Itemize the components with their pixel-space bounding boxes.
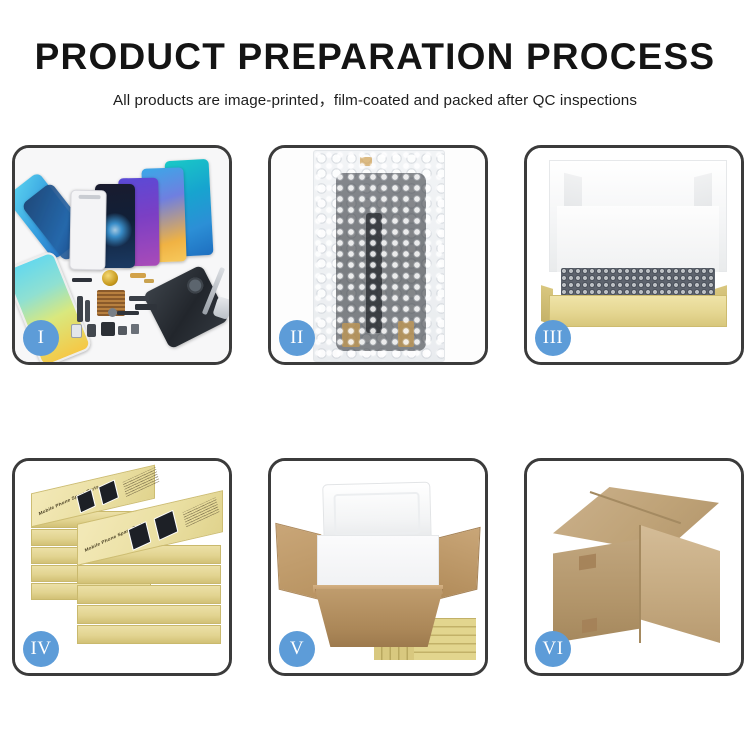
component-lens [108, 308, 117, 317]
stacked-box [77, 585, 221, 604]
step-panel-3[interactable]: III [524, 145, 744, 365]
step-badge-3: III [535, 320, 571, 356]
step-badge-5: V [279, 631, 315, 667]
step-panel-1[interactable]: I [12, 145, 232, 365]
bubble-wrap-bag [313, 150, 445, 362]
box-print-specs [123, 467, 160, 497]
process-step-grid: I II [12, 145, 738, 676]
component-ribbon-a [77, 296, 83, 322]
component-bracket-a [129, 296, 149, 301]
component-ribbon-b [85, 300, 90, 322]
component-strip [72, 278, 92, 282]
component-flex-cable [130, 273, 146, 278]
foam-lid-inner-edge [333, 492, 420, 536]
component-antenna [117, 311, 139, 315]
component-button [87, 324, 96, 337]
stacked-box [77, 605, 221, 624]
carton-tape-upper [579, 554, 596, 571]
foam-box-body [317, 535, 439, 591]
component-sim-tray [71, 324, 82, 338]
step-badge-4: IV [23, 631, 59, 667]
header: PRODUCT PREPARATION PROCESS All products… [0, 38, 750, 110]
component-speaker [102, 270, 118, 286]
carton-tape-lower [582, 618, 597, 633]
carton-left-face [553, 539, 641, 643]
box-print-specs [183, 497, 220, 527]
page-subtitle: All products are image-printed，film-coat… [0, 88, 750, 110]
component-chip [118, 326, 127, 335]
bubble-texture [314, 151, 444, 361]
component-connector [144, 279, 154, 283]
step-badge-6: VI [535, 631, 571, 667]
step-panel-5[interactable]: V [268, 458, 488, 676]
step-badge-2: II [279, 320, 315, 356]
box-print-thumbnail [98, 479, 119, 505]
carton-vertical-edge [639, 525, 641, 643]
stacked-box [77, 565, 221, 584]
foam-sheet [557, 206, 719, 272]
phone-screen-blank [69, 190, 106, 271]
product-preparation-infographic: PRODUCT PREPARATION PROCESS All products… [0, 0, 750, 750]
box-front-panel [549, 295, 727, 327]
stacked-box [77, 625, 221, 644]
component-camera-module [101, 322, 115, 336]
box-print-thumbnail [154, 510, 179, 541]
component-bracket-b [135, 304, 157, 310]
step-panel-4[interactable]: Mobile Phone Spare Parts Mobile Phone Sp… [12, 458, 232, 676]
step-badge-1: I [23, 320, 59, 356]
page-title: PRODUCT PREPARATION PROCESS [0, 38, 750, 77]
step-panel-6[interactable]: VI [524, 458, 744, 676]
carton-front-panel [315, 589, 443, 647]
bubble-wrap-padding [561, 268, 715, 298]
component-screw-pack [131, 324, 139, 334]
step-panel-2[interactable]: II [268, 145, 488, 365]
